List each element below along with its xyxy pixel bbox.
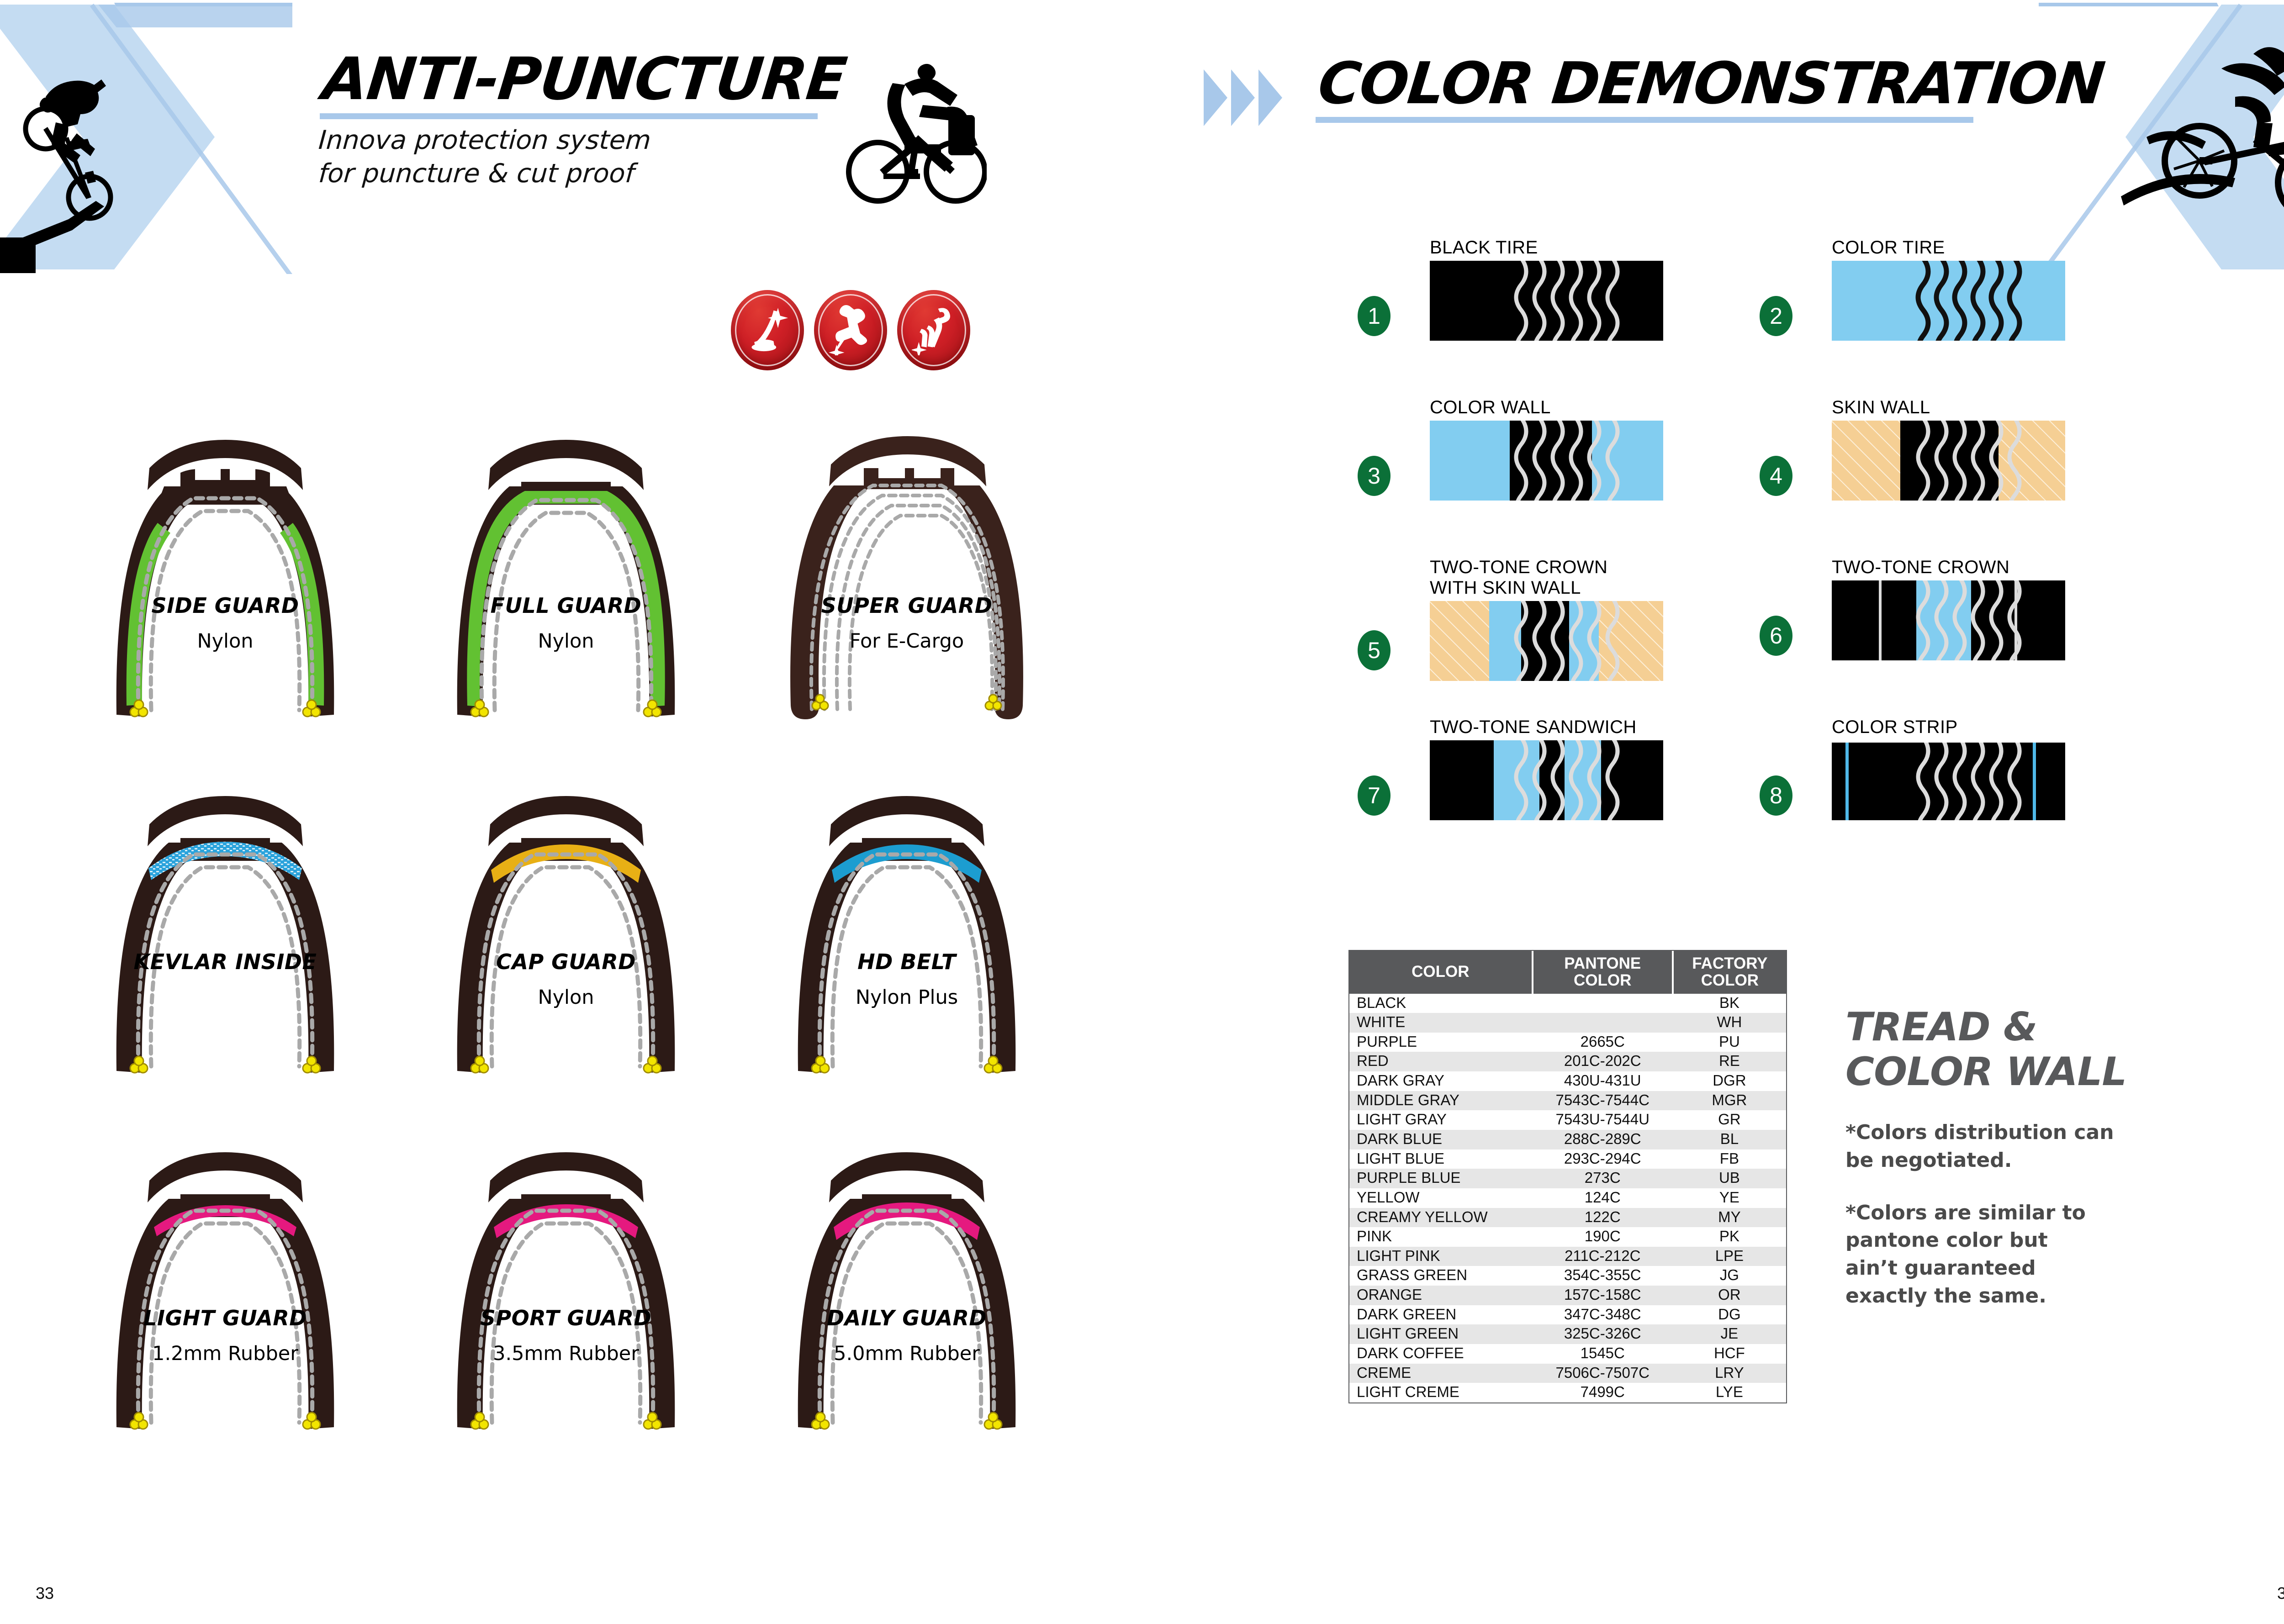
table-row: LIGHT GRAY7543U-7544UGR: [1349, 1110, 1786, 1130]
demo-item-skin-wall: 4 SKIN WALL: [1750, 397, 2152, 557]
right-page-header: COLOR DEMONSTRATION: [1316, 55, 2092, 127]
swatch-color-tire: [1832, 261, 2065, 341]
title-underline-right: [1316, 117, 1973, 123]
column-header-color: COLOR: [1349, 951, 1533, 994]
cell-factory-color: JE: [1673, 1324, 1786, 1344]
cell-pantone-color: 2665C: [1533, 1033, 1673, 1052]
column-header-pantone: PANTONE COLOR: [1533, 951, 1673, 994]
badge-nail: [897, 290, 970, 370]
cell-pantone-color: 273C: [1533, 1169, 1673, 1188]
subtitle-line-1: Innova protection system: [317, 124, 868, 157]
cell-factory-color: DG: [1673, 1305, 1786, 1325]
cell-factory-color: PK: [1673, 1227, 1786, 1247]
tire-sport-guard: SPORT GUARD 3.5mm Rubber: [396, 1126, 736, 1445]
tire-row-3: LIGHT GUARD 1.2mm Rubber: [55, 1126, 1078, 1445]
tire-row-2: KEVLAR INSIDE: [55, 770, 1078, 1089]
cell-pantone-color: 347C-348C: [1533, 1305, 1673, 1325]
demo-row-3: 5 TWO-TONE CROWN WITH SKIN WALL 6: [1348, 557, 2152, 717]
cell-color-name: PURPLE BLUE: [1349, 1169, 1533, 1188]
table-row: DARK COFFEE1545CHCF: [1349, 1344, 1786, 1364]
cell-color-name: BLACK: [1349, 994, 1533, 1013]
cell-color-name: PINK: [1349, 1227, 1533, 1247]
demo-item-two-tone-crown: 6 TWO-TONE CROWN: [1750, 557, 2152, 717]
cell-factory-color: DGR: [1673, 1071, 1786, 1091]
cell-color-name: LIGHT CREME: [1349, 1383, 1533, 1403]
demo-caption: SKIN WALL: [1832, 397, 2065, 418]
swatch-two-tone-crown: [1832, 580, 2065, 660]
cell-color-name: PURPLE: [1349, 1033, 1533, 1052]
demo-item-color-wall: 3 COLOR WALL: [1348, 397, 1750, 557]
cell-factory-color: GR: [1673, 1110, 1786, 1130]
note-pantone-similarity: *Colors are similar to pantone color but…: [1845, 1199, 2220, 1310]
demo-caption: TWO-TONE SANDWICH: [1430, 717, 1663, 738]
table-row: LIGHT GREEN325C-326CJE: [1349, 1324, 1786, 1344]
demo-item-two-tone-crown-skin-wall: 5 TWO-TONE CROWN WITH SKIN WALL: [1348, 557, 1750, 717]
feature-badges: [731, 290, 970, 370]
cell-factory-color: WH: [1673, 1013, 1786, 1033]
cell-color-name: CREME: [1349, 1364, 1533, 1383]
left-page-header: ANTI-PUNCTURE Innova protection system f…: [320, 50, 868, 190]
tread-color-wall-notes: TREAD & COLOR WALL *Colors distribution …: [1845, 1005, 2220, 1310]
demo-number-badge: 7: [1358, 775, 1390, 816]
cell-factory-color: UB: [1673, 1169, 1786, 1188]
demo-item-color-strip: 8 COLOR STRIP: [1750, 717, 2152, 877]
cell-factory-color: JG: [1673, 1266, 1786, 1286]
demo-number-badge: 6: [1760, 616, 1792, 656]
demo-caption: TWO-TONE CROWN WITH SKIN WALL: [1430, 557, 1663, 598]
table-row: PURPLE BLUE273CUB: [1349, 1169, 1786, 1188]
tire-super-guard: SUPER GUARD For E-Cargo: [736, 413, 1077, 733]
cell-color-name: LIGHT GRAY: [1349, 1110, 1533, 1130]
tire-full-guard: FULL GUARD Nylon: [396, 413, 736, 733]
cell-color-name: DARK BLUE: [1349, 1130, 1533, 1149]
swatch-two-tone-crown-skin-wall: [1430, 601, 1663, 681]
table-row: GRASS GREEN354C-355CJG: [1349, 1266, 1786, 1286]
demo-item-two-tone-sandwich: 7 TWO-TONE SANDWICH: [1348, 717, 1750, 877]
demo-caption: COLOR WALL: [1430, 397, 1663, 418]
cell-factory-color: LPE: [1673, 1247, 1786, 1266]
notes-heading-line2: COLOR WALL: [1845, 1049, 2220, 1094]
cell-factory-color: PU: [1673, 1033, 1786, 1052]
demo-row-2: 3 COLOR WALL 4 SKIN WALL: [1348, 397, 2152, 557]
demo-number-badge: 5: [1358, 630, 1390, 670]
cell-pantone-color: 211C-212C: [1533, 1247, 1673, 1266]
cell-factory-color: BL: [1673, 1130, 1786, 1149]
demo-number-badge: 8: [1760, 775, 1792, 816]
table-header-row: COLOR PANTONE COLOR FACTORY COLOR: [1349, 951, 1786, 994]
subtitle-line-2: for puncture & cut proof: [317, 157, 868, 190]
cell-pantone-color: 325C-326C: [1533, 1324, 1673, 1344]
demo-number-badge: 3: [1358, 456, 1390, 496]
badge-pushpin: [814, 290, 887, 370]
cell-pantone-color: 190C: [1533, 1227, 1673, 1247]
corner-decoration-top-right: [2039, 0, 2284, 274]
cell-color-name: GRASS GREEN: [1349, 1266, 1533, 1286]
swatch-color-strip: [1832, 740, 2065, 820]
cell-pantone-color: 1545C: [1533, 1344, 1673, 1364]
demo-caption: BLACK TIRE: [1430, 237, 1663, 258]
cell-color-name: DARK GREEN: [1349, 1305, 1533, 1325]
cell-factory-color: FB: [1673, 1149, 1786, 1169]
table-row: MIDDLE GRAY7543C-7544CMGR: [1349, 1091, 1786, 1111]
page-number-right: 34: [2277, 1584, 2284, 1603]
cell-pantone-color: 124C: [1533, 1188, 1673, 1208]
tire-cross-section-grid: SIDE GUARD Nylon: [55, 413, 1078, 1482]
cell-pantone-color: 122C: [1533, 1208, 1673, 1228]
notes-heading-line1: TREAD &: [1845, 1005, 2220, 1049]
cell-pantone-color: [1533, 994, 1673, 1013]
chevron-icon-3: [1258, 69, 1282, 126]
header-chevrons: [1204, 69, 1286, 126]
table-row: ORANGE157C-158COR: [1349, 1286, 1786, 1305]
color-reference-table: COLOR PANTONE COLOR FACTORY COLOR BLACKB…: [1348, 950, 1787, 1403]
table-row: BLACKBK: [1349, 994, 1786, 1013]
tire-daily-guard: DAILY GUARD 5.0mm Rubber: [736, 1126, 1077, 1445]
cell-factory-color: RE: [1673, 1052, 1786, 1071]
table-row: LIGHT CREME7499CLYE: [1349, 1383, 1786, 1403]
tire-cap-guard: CAP GUARD Nylon: [396, 770, 736, 1089]
swatch-color-wall: [1430, 421, 1663, 501]
demo-row-4: 7 TWO-TONE SANDWICH 8 C: [1348, 717, 2152, 877]
cyclist-icon: [836, 59, 987, 212]
badge-thorn: [731, 290, 804, 370]
tire-kevlar-inside: KEVLAR INSIDE: [55, 770, 396, 1089]
cell-pantone-color: 7499C: [1533, 1383, 1673, 1403]
cell-color-name: WHITE: [1349, 1013, 1533, 1033]
table-row: DARK BLUE288C-289CBL: [1349, 1130, 1786, 1149]
cell-color-name: YELLOW: [1349, 1188, 1533, 1208]
cell-factory-color: HCF: [1673, 1344, 1786, 1364]
swatch-black-tire: [1430, 261, 1663, 341]
cell-pantone-color: 293C-294C: [1533, 1149, 1673, 1169]
color-demonstration-grid: 1 BLACK TIRE 2 COLOR TIRE: [1348, 237, 2152, 877]
page-number-left: 33: [36, 1584, 54, 1603]
demo-number-badge: 4: [1760, 456, 1792, 496]
demo-number-badge: 1: [1358, 296, 1390, 336]
cell-color-name: RED: [1349, 1052, 1533, 1071]
swatch-skin-wall: [1832, 421, 2065, 501]
cell-factory-color: MY: [1673, 1208, 1786, 1228]
page-title-anti-puncture: ANTI-PUNCTURE: [320, 50, 874, 109]
cell-color-name: MIDDLE GRAY: [1349, 1091, 1533, 1111]
title-underline: [320, 113, 818, 119]
cell-pantone-color: 201C-202C: [1533, 1052, 1673, 1071]
chevron-icon-1: [1204, 69, 1227, 126]
table-row: LIGHT BLUE293C-294CFB: [1349, 1149, 1786, 1169]
demo-row-1: 1 BLACK TIRE 2 COLOR TIRE: [1348, 237, 2152, 397]
cell-color-name: CREAMY YELLOW: [1349, 1208, 1533, 1228]
cell-factory-color: BK: [1673, 994, 1786, 1013]
demo-caption: TWO-TONE CROWN: [1832, 557, 2065, 578]
cell-factory-color: YE: [1673, 1188, 1786, 1208]
tire-hd-belt: HD BELT Nylon Plus: [736, 770, 1077, 1089]
cell-color-name: DARK GRAY: [1349, 1071, 1533, 1091]
cell-pantone-color: [1533, 1013, 1673, 1033]
note-colors-distribution: *Colors distribution can be negotiated.: [1845, 1119, 2220, 1174]
table-row: RED201C-202CRE: [1349, 1052, 1786, 1071]
cell-color-name: ORANGE: [1349, 1286, 1533, 1305]
cell-factory-color: MGR: [1673, 1091, 1786, 1111]
table-row: CREAMY YELLOW122CMY: [1349, 1208, 1786, 1228]
table-row: PINK190CPK: [1349, 1227, 1786, 1247]
cell-color-name: LIGHT PINK: [1349, 1247, 1533, 1266]
table-row: WHITEWH: [1349, 1013, 1786, 1033]
chevron-icon-2: [1231, 69, 1255, 126]
cell-factory-color: OR: [1673, 1286, 1786, 1305]
catalog-spread: ANTI-PUNCTURE Innova protection system f…: [0, 0, 2284, 1624]
cell-pantone-color: 354C-355C: [1533, 1266, 1673, 1286]
cell-color-name: LIGHT BLUE: [1349, 1149, 1533, 1169]
swatch-two-tone-sandwich: [1430, 740, 1663, 820]
cell-color-name: DARK COFFEE: [1349, 1344, 1533, 1364]
cell-pantone-color: 430U-431U: [1533, 1071, 1673, 1091]
cell-factory-color: LYE: [1673, 1383, 1786, 1403]
demo-caption: COLOR STRIP: [1832, 717, 2065, 738]
table-row: CREME7506C-7507CLRY: [1349, 1364, 1786, 1383]
column-header-factory: FACTORY COLOR: [1673, 951, 1786, 994]
cell-pantone-color: 157C-158C: [1533, 1286, 1673, 1305]
tire-light-guard: LIGHT GUARD 1.2mm Rubber: [55, 1126, 396, 1445]
demo-caption: COLOR TIRE: [1832, 237, 2065, 258]
tire-side-guard: SIDE GUARD Nylon: [55, 413, 396, 733]
cell-color-name: LIGHT GREEN: [1349, 1324, 1533, 1344]
corner-decoration-top-left: [0, 0, 292, 274]
table-row: LIGHT PINK211C-212CLPE: [1349, 1247, 1786, 1266]
table-row: DARK GRAY430U-431UDGR: [1349, 1071, 1786, 1091]
tire-row-1: SIDE GUARD Nylon: [55, 413, 1078, 733]
table-row: PURPLE2665CPU: [1349, 1033, 1786, 1052]
page-title-color-demonstration: COLOR DEMONSTRATION: [1316, 55, 2098, 112]
demo-item-black-tire: 1 BLACK TIRE: [1348, 237, 1750, 397]
cell-pantone-color: 7543C-7544C: [1533, 1091, 1673, 1111]
cell-factory-color: LRY: [1673, 1364, 1786, 1383]
demo-number-badge: 2: [1760, 296, 1792, 336]
cell-pantone-color: 7543U-7544U: [1533, 1110, 1673, 1130]
demo-item-color-tire: 2 COLOR TIRE: [1750, 237, 2152, 397]
table-row: YELLOW124CYE: [1349, 1188, 1786, 1208]
cell-pantone-color: 7506C-7507C: [1533, 1364, 1673, 1383]
table-row: DARK GREEN347C-348CDG: [1349, 1305, 1786, 1325]
cell-pantone-color: 288C-289C: [1533, 1130, 1673, 1149]
